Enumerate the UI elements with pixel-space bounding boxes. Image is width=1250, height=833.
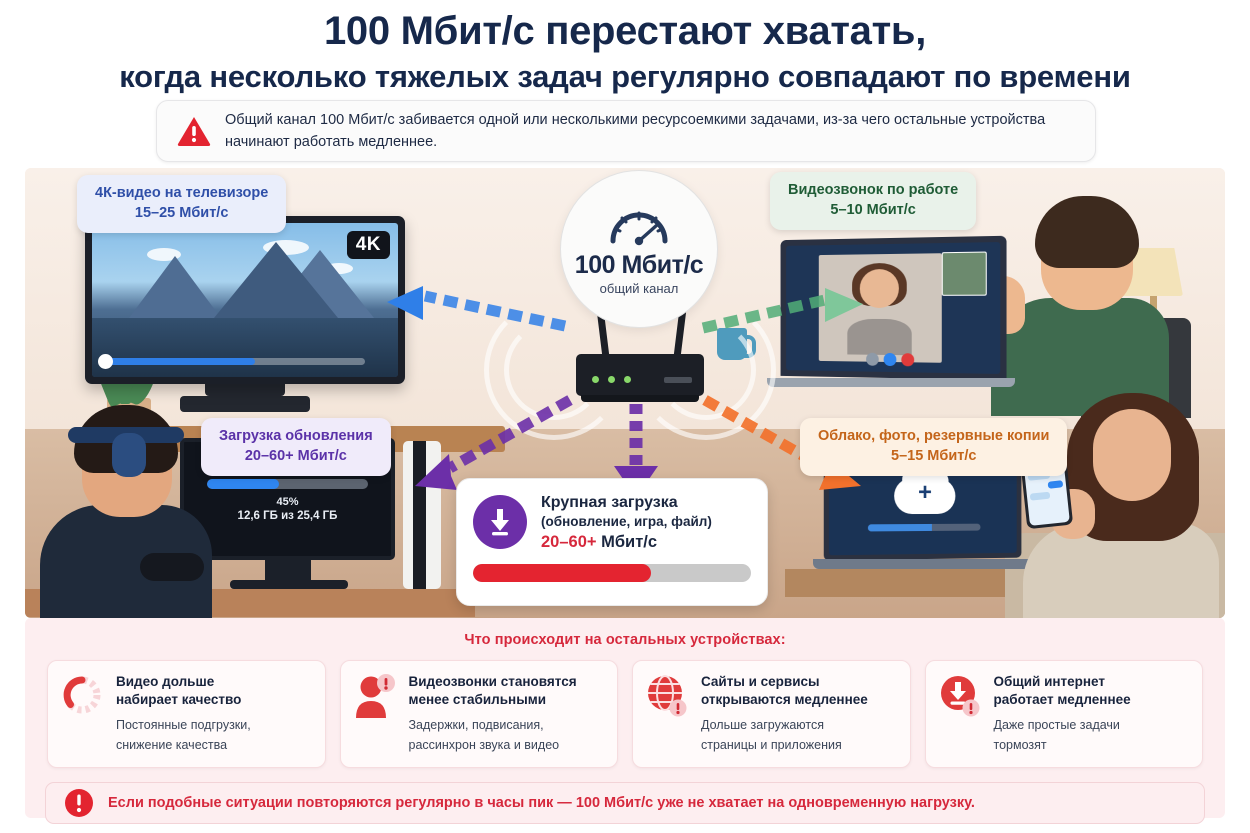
effect-sub-line1: Даже простые задачи [994,716,1131,734]
download-card-speed: 20–60+ Мбит/с [541,533,712,552]
tv-playback-knob[interactable] [98,354,113,369]
router-led [608,376,615,383]
warning-triangle-icon [177,115,211,147]
mountain-shape [129,256,221,318]
info-button[interactable] [866,352,879,365]
effect-sub-line2: страницы и приложения [701,736,868,754]
warning-banner-text: Общий канал 100 Мбит/с забивается одной … [225,109,1075,154]
bandwidth-hub: 100 Мбит/с общий канал [560,170,718,328]
tv-playback-bar[interactable] [102,358,365,365]
woman-head [1093,409,1171,501]
effects-heading: Что происходит на остальных устройствах: [25,618,1225,648]
callout-tv-title: 4К-видео на телевизоре [95,184,268,203]
download-arrow-icon [486,507,514,537]
callout-videocall-title: Видеозвонок по работе [788,181,958,200]
effect-title-line2: менее стабильными [409,691,577,709]
chat-bubble [1030,492,1050,501]
effect-title-line1: Общий интернет [994,673,1131,691]
globe-alert-icon [645,673,689,721]
download-card-title: Крупная загрузка [541,493,712,512]
callout-videocall: Видеозвонок по работе 5–10 Мбит/с [770,172,976,230]
television: 4K [85,216,405,384]
effect-title-line1: Видеозвонки становятся [409,673,577,691]
hub-bandwidth-value: 100 Мбит/с [575,251,703,280]
callout-tv: 4К-видео на телевизоре 15–25 Мбит/с [77,175,286,233]
speedometer-icon [607,203,671,247]
self-view-thumbnail [942,251,987,296]
callout-download-bandwidth: 20–60+ Мбит/с [219,446,373,467]
download-alert-icon [938,673,982,721]
callout-cloud-bandwidth: 5–15 Мбит/с [818,446,1049,467]
callout-cloud-title: Облако, фото, резервные копии [818,427,1049,446]
effect-sub-line1: Задержки, подвисания, [409,716,577,734]
effect-title-line1: Видео дольше [116,673,251,691]
page-header: 100 Мбит/с перестают хватать, когда неск… [0,0,1250,95]
download-icon-badge [473,495,527,549]
warning-banner: Общий канал 100 Мбит/с забивается одной … [156,100,1096,162]
router-label-strip [664,377,692,383]
effect-card-video-text: Видео дольше набирает качество Постоянны… [116,673,251,755]
effect-card-websites-text: Сайты и сервисы открываются медленнее До… [701,673,868,755]
lake-shape [92,318,398,377]
page-title-line2: когда несколько тяжелых задач регулярно … [0,58,1250,95]
page-title-line1: 100 Мбит/с перестают хватать, [0,8,1250,54]
game-controller [140,553,204,581]
tv-screen: 4K [92,223,398,377]
router-led [624,376,631,383]
tv-quadrant: 4K [85,216,405,396]
effects-card-list: Видео дольше набирает качество Постоянны… [25,648,1225,768]
gamer-person [40,393,210,618]
sync-progress-bar [868,524,981,532]
effect-title-line2: работает медленнее [994,691,1131,709]
resolution-badge: 4K [347,231,390,259]
monitor-foot [230,580,348,589]
call-controls[interactable] [866,352,914,366]
effect-sub-line1: Дольше загружаются [701,716,868,734]
effect-title-line1: Сайты и сервисы [701,673,868,691]
hub-caption: общий канал [600,281,679,296]
effect-card-internet-text: Общий интернет работает медленнее Даже п… [994,673,1131,755]
effect-card-video: Видео дольше набирает качество Постоянны… [47,660,326,768]
chat-bubble [1048,480,1064,489]
videocall-quadrant [765,198,1185,413]
effect-title-line2: открываются медленнее [701,691,868,709]
effect-sub-line2: тормозят [994,736,1131,754]
person-alert-icon [353,673,397,721]
callout-cloud: Облако, фото, резервные копии 5–15 Мбит/… [800,418,1067,476]
participant-body [848,319,912,356]
participant-head [860,269,899,308]
download-progress-bar [207,479,368,489]
download-card-speed-unit: Мбит/с [597,533,658,551]
effect-card-websites: Сайты и сервисы открываются медленнее До… [632,660,911,768]
videocall-laptop [781,236,1007,381]
effect-card-videocall-text: Видеозвонки становятся менее стабильными… [409,673,577,755]
download-card-subtitle: (обновление, игра, файл) [541,512,712,532]
footer-text: Если подобные ситуации повторяются регул… [108,795,975,811]
callout-videocall-bandwidth: 5–10 Мбит/с [788,200,958,221]
effect-card-internet: Общий интернет работает медленнее Даже п… [925,660,1204,768]
buffering-spinner-icon [60,673,104,721]
hangup-button[interactable] [901,353,914,366]
wifi-router [576,354,704,396]
download-card-speed-value: 20–60+ [541,533,597,551]
callout-tv-bandwidth: 15–25 Мбит/с [95,203,268,224]
game-console [403,441,441,589]
infographic-page: 100 Мбит/с перестают хватать, когда неск… [0,0,1250,833]
exclamation-circle-icon [64,788,94,818]
remote-participant [819,253,942,362]
download-size: 12,6 ГБ из 25,4 ГБ [184,510,391,522]
person-hair [1035,196,1139,268]
monitor-stand [265,560,311,582]
large-download-card: Крупная загрузка (обновление, игра, файл… [456,478,768,606]
mountain-shape [214,242,338,318]
router-led [592,376,599,383]
download-percent: 45% [184,496,391,508]
download-card-header: Крупная загрузка (обновление, игра, файл… [473,493,751,552]
callout-download-title: Загрузка обновления [219,427,373,446]
download-card-text: Крупная загрузка (обновление, игра, файл… [541,493,712,552]
effect-card-videocall: Видеозвонки становятся менее стабильными… [340,660,619,768]
cloud-laptop-base [813,559,1037,569]
laptop-screen [786,242,1000,374]
gaming-headset-cup [112,433,146,477]
effect-sub-line2: снижение качества [116,736,251,754]
camera-button[interactable] [884,353,897,366]
effect-sub-line1: Постоянные подгрузки, [116,716,251,734]
effect-title-line2: набирает качество [116,691,251,709]
footer-banner: Если подобные ситуации повторяются регул… [45,782,1205,824]
download-card-progress [473,564,751,582]
effect-sub-line2: рассинхрон звука и видео [409,736,577,754]
cloud-plus-icon: + [918,481,932,505]
callout-download: Загрузка обновления 20–60+ Мбит/с [201,418,391,476]
